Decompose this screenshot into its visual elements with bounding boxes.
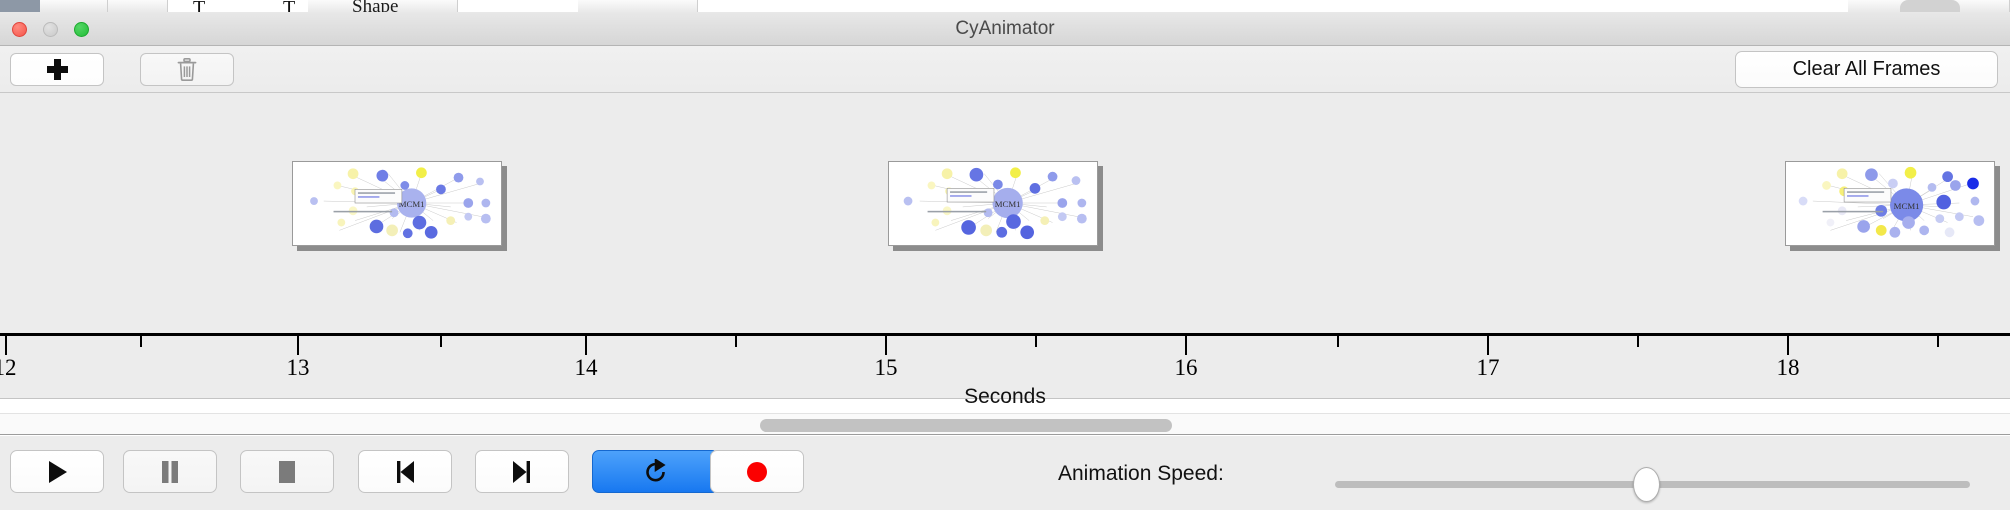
bg-segment xyxy=(40,0,108,12)
axis-tick-major xyxy=(585,336,587,355)
window-title: CyAnimator xyxy=(0,12,2010,46)
bg-segment xyxy=(458,0,578,12)
svg-text:MCM1: MCM1 xyxy=(995,199,1021,209)
bg-segment xyxy=(1900,0,1960,12)
pause-icon xyxy=(160,460,180,484)
trash-icon xyxy=(177,58,197,81)
bg-segment xyxy=(698,0,1848,12)
skip-forward-icon xyxy=(511,460,533,484)
bg-segment xyxy=(0,0,40,12)
bg-segment xyxy=(108,0,168,12)
axis-tick-major xyxy=(885,336,887,355)
axis-tick-major xyxy=(1787,336,1789,355)
delete-frame-button[interactable] xyxy=(140,53,234,86)
axis-tick-major xyxy=(5,336,7,355)
bg-segment xyxy=(578,0,698,12)
network-thumbnail-graphic: MCM1 xyxy=(293,162,501,245)
axis-tick-minor xyxy=(440,336,442,347)
axis-tick-minor xyxy=(1035,336,1037,347)
axis-tick-major xyxy=(1487,336,1489,355)
frame-thumbnail: MCM1 xyxy=(292,161,502,246)
clear-all-frames-label: Clear All Frames xyxy=(1793,58,1941,81)
animation-speed-slider-thumb[interactable] xyxy=(1633,467,1660,502)
frame-thumbnail: MCM1 xyxy=(1785,161,1995,246)
network-thumbnail-graphic: MCM1 xyxy=(1786,162,1994,245)
svg-text:MCM1: MCM1 xyxy=(399,199,425,209)
axis-title: Seconds xyxy=(0,385,2010,409)
skip-start-button[interactable] xyxy=(358,450,452,493)
axis-tick-major xyxy=(1185,336,1187,355)
frame-thumbnail: MCM1 xyxy=(888,161,1098,246)
timeline-frame[interactable]: MCM1 xyxy=(292,161,507,251)
axis-tick-label: 15 xyxy=(875,355,898,381)
axis-tick-minor xyxy=(1937,336,1939,347)
axis-tick-minor xyxy=(140,336,142,347)
network-thumbnail-graphic: MCM1 xyxy=(889,162,1097,245)
stop-button[interactable] xyxy=(240,450,334,493)
axis-tick-label: 12 xyxy=(0,355,17,381)
playback-toolbar: Animation Speed: xyxy=(0,436,2010,510)
pause-button[interactable] xyxy=(123,450,217,493)
axis-tick-label: 14 xyxy=(575,355,598,381)
add-frame-button[interactable] xyxy=(10,53,104,86)
axis-tick-label: 13 xyxy=(287,355,310,381)
play-icon xyxy=(46,460,68,484)
skip-back-icon xyxy=(394,460,416,484)
timeline-scrollbar[interactable] xyxy=(0,413,2010,435)
axis-tick-label: 18 xyxy=(1777,355,1800,381)
axis-tick-label: 17 xyxy=(1477,355,1500,381)
svg-text:MCM1: MCM1 xyxy=(1894,201,1920,211)
play-button[interactable] xyxy=(10,450,104,493)
timeline-frame[interactable]: MCM1 xyxy=(888,161,1103,251)
clear-all-frames-button[interactable]: Clear All Frames xyxy=(1735,51,1998,88)
cyanimator-window: T T Shape CyAnimator Clear All Frames xyxy=(0,0,2010,510)
axis-tick-major xyxy=(297,336,299,355)
timeline-frame[interactable]: MCM1 xyxy=(1785,161,2000,251)
plus-icon xyxy=(47,59,68,80)
loop-icon xyxy=(643,459,669,485)
timeline-panel[interactable]: MCM1 xyxy=(0,93,2010,399)
loop-button[interactable] xyxy=(592,450,719,493)
background-app-strip: T T Shape xyxy=(0,0,2010,12)
axis-tick-minor xyxy=(735,336,737,347)
axis-tick-minor xyxy=(1337,336,1339,347)
toolbar: Clear All Frames xyxy=(0,46,2010,93)
scrollbar-thumb[interactable] xyxy=(760,419,1172,432)
skip-end-button[interactable] xyxy=(475,450,569,493)
title-bar: CyAnimator xyxy=(0,12,2010,46)
record-icon xyxy=(745,460,769,484)
stop-icon xyxy=(277,460,297,484)
axis-tick-label: 16 xyxy=(1175,355,1198,381)
timeline-axis xyxy=(0,333,2010,336)
axis-tick-minor xyxy=(1637,336,1639,347)
animation-speed-label: Animation Speed: xyxy=(1058,462,1224,486)
record-button[interactable] xyxy=(710,450,804,493)
